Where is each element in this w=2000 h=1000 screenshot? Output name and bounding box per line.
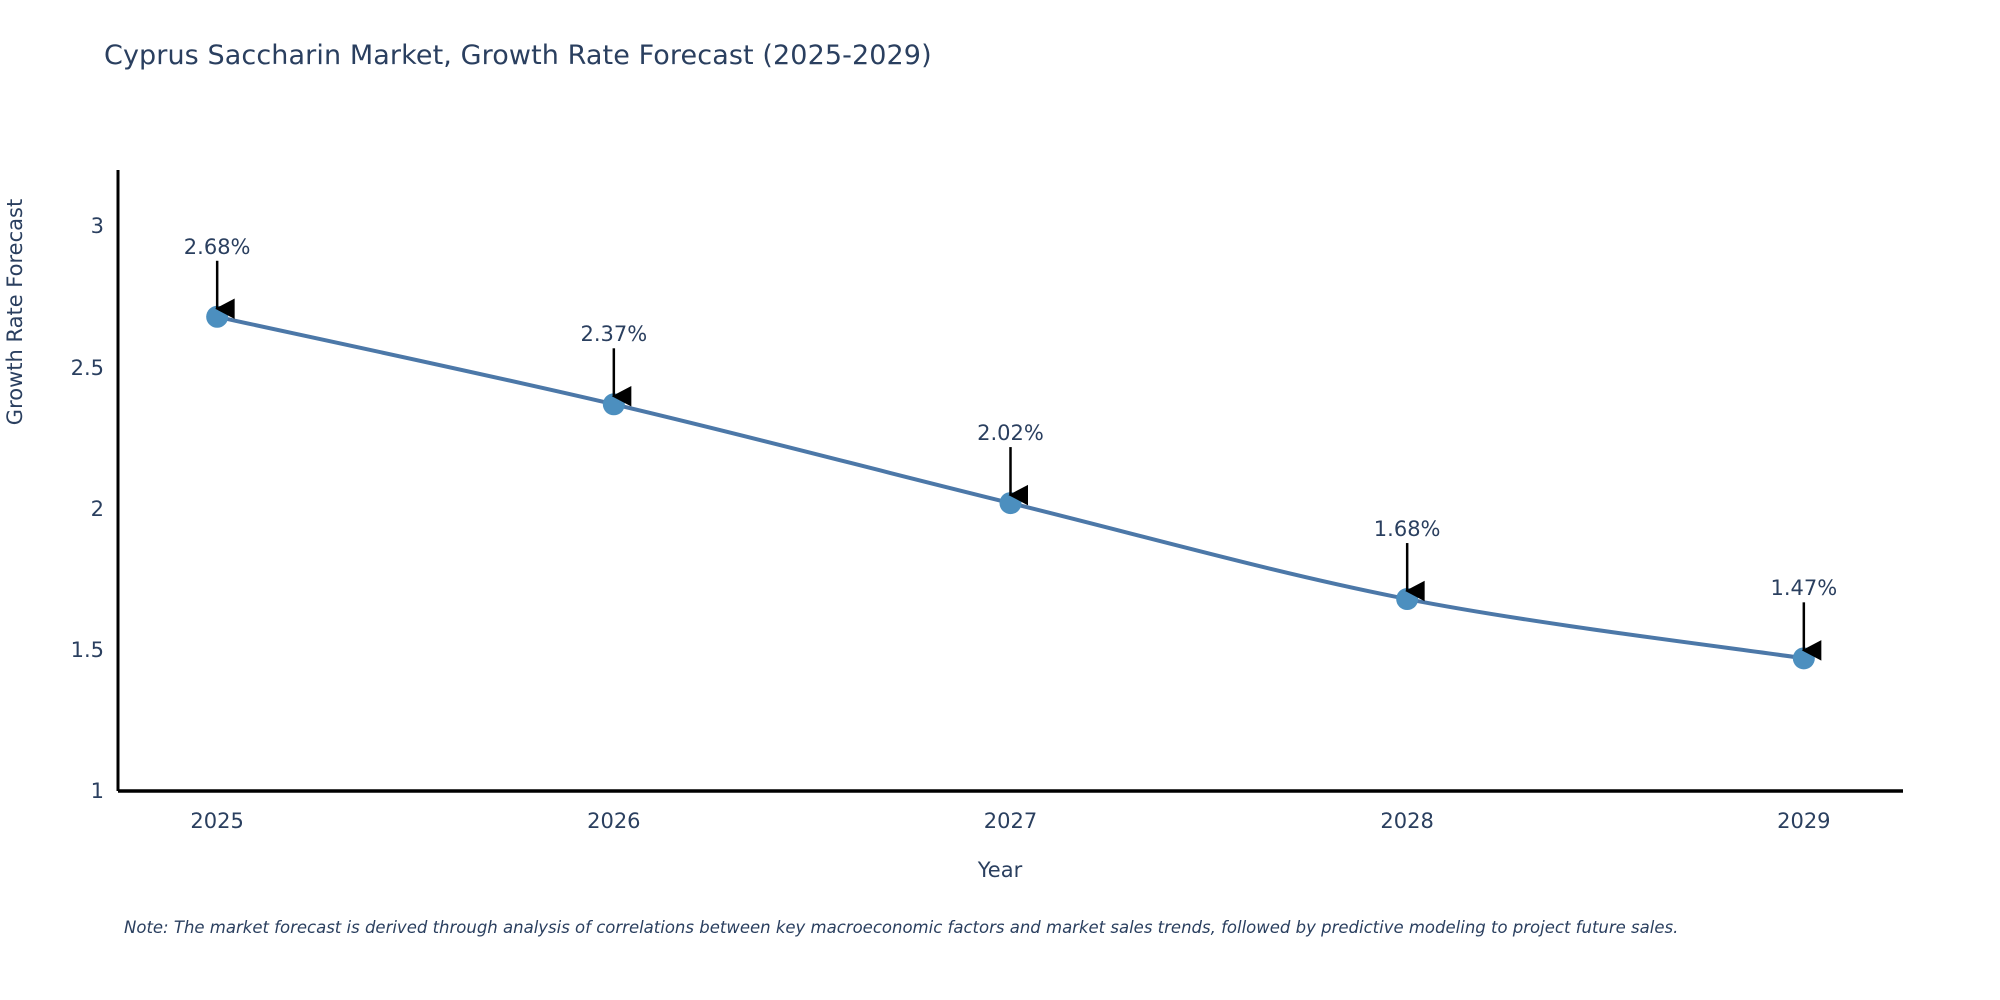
data-point-label: 2.68% xyxy=(184,235,251,259)
data-point-marker[interactable] xyxy=(1000,492,1022,514)
data-point-marker[interactable] xyxy=(1793,647,1815,669)
x-tick-label: 2028 xyxy=(1327,809,1487,833)
y-tick-label: 1.5 xyxy=(4,638,104,662)
data-point-marker[interactable] xyxy=(206,306,228,328)
y-tick-label: 3 xyxy=(4,214,104,238)
x-tick-label: 2026 xyxy=(534,809,694,833)
x-tick-label: 2025 xyxy=(137,809,297,833)
chart-footnote: Note: The market forecast is derived thr… xyxy=(124,918,2000,937)
data-point-label: 2.37% xyxy=(580,322,647,346)
data-point-label: 1.47% xyxy=(1770,576,1837,600)
plot-area xyxy=(0,0,2000,1000)
y-tick-label: 1 xyxy=(4,779,104,803)
x-tick-label: 2029 xyxy=(1724,809,1884,833)
data-point-marker[interactable] xyxy=(1396,588,1418,610)
data-point-label: 2.02% xyxy=(977,421,1044,445)
y-tick-label: 2 xyxy=(4,497,104,521)
y-tick-label: 2.5 xyxy=(4,356,104,380)
annotation-arrows xyxy=(217,261,1804,651)
x-tick-label: 2027 xyxy=(931,809,1091,833)
data-point-label: 1.68% xyxy=(1374,517,1441,541)
chart-figure: Cyprus Saccharin Market, Growth Rate For… xyxy=(0,0,2000,1000)
data-point-marker[interactable] xyxy=(603,393,625,415)
